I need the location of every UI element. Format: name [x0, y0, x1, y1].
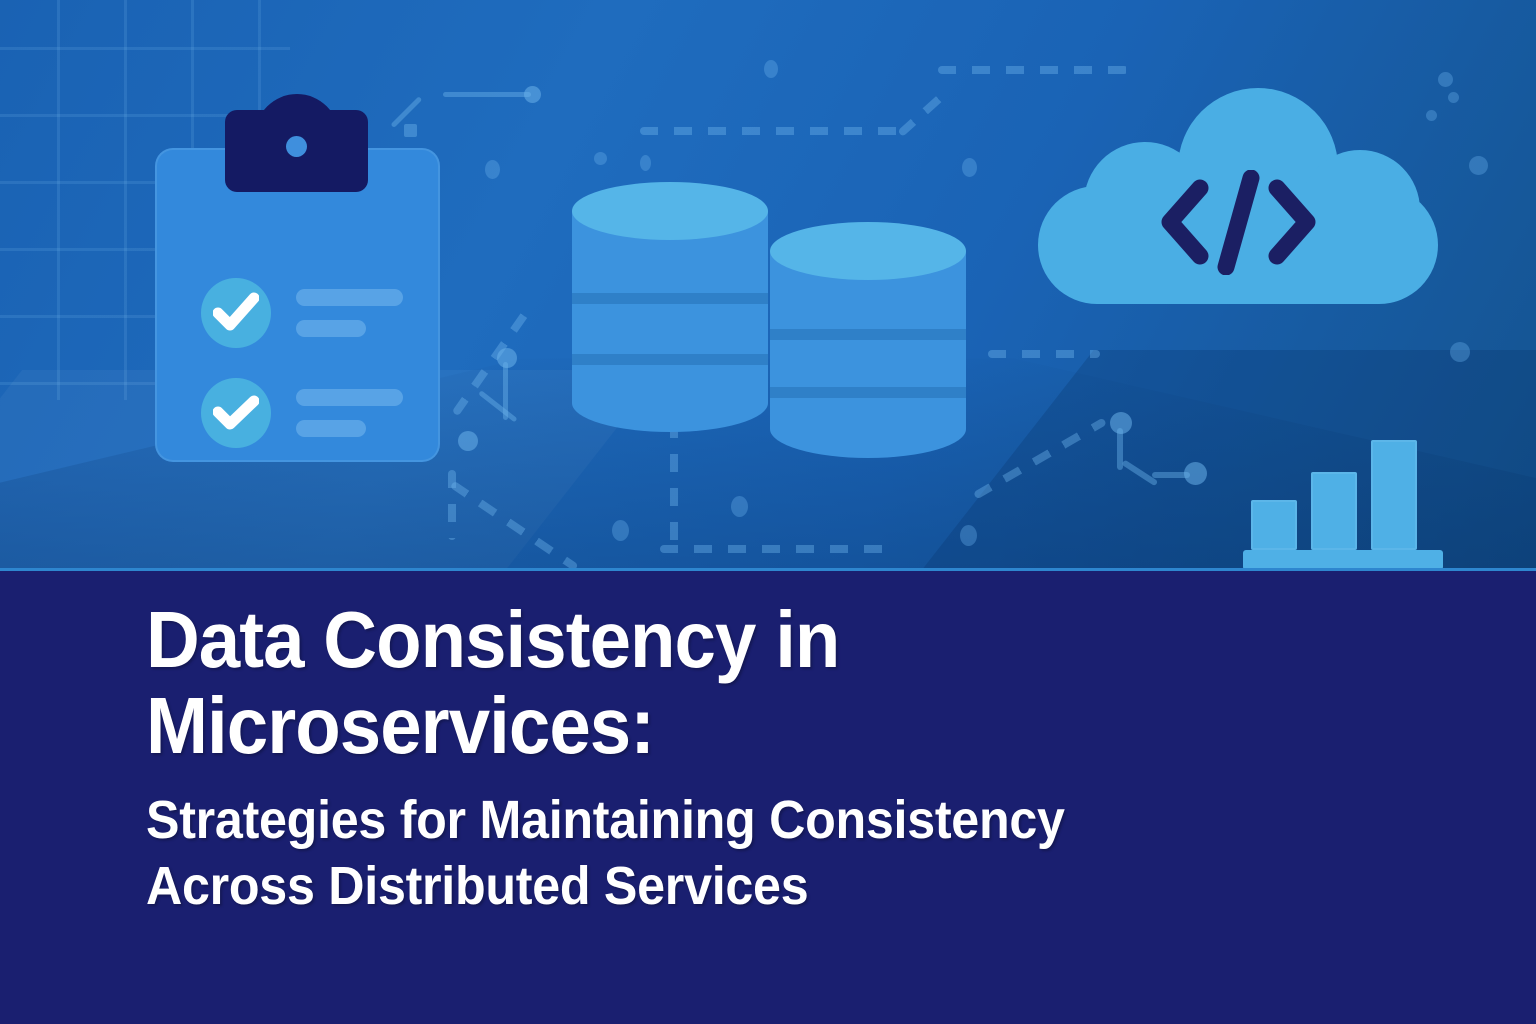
decorative-dot — [1438, 72, 1453, 87]
hero-illustration — [0, 0, 1536, 570]
dashed-connector-top-right — [938, 66, 1128, 74]
page-title-line-2: Microservices: — [146, 683, 1374, 769]
chart-bar — [1371, 440, 1417, 550]
blog-header-banner: Data Consistency in Microservices: Strat… — [0, 0, 1536, 1024]
page-subtitle-line-2: Across Distributed Services — [146, 853, 1374, 919]
database-cylinder-front — [572, 182, 768, 440]
chart-baseline — [1243, 550, 1443, 570]
page-title-line-1: Data Consistency in — [146, 597, 1374, 683]
text-line-short — [296, 320, 366, 337]
checklist-text-lines — [296, 389, 403, 437]
page-subtitle-line-1: Strategies for Maintaining Consistency — [146, 787, 1374, 853]
decorative-dot — [612, 520, 629, 541]
dashed-connector-diagonal-upper — [897, 86, 953, 137]
title-block: Data Consistency in Microservices: Strat… — [146, 597, 1466, 919]
decorative-dot — [960, 525, 977, 546]
dashed-connector-vertical-left — [448, 470, 456, 540]
dashed-connector-top-center — [640, 127, 900, 135]
text-line-short — [296, 420, 366, 437]
decorative-dot — [640, 155, 651, 171]
decorative-dot — [1469, 156, 1488, 175]
page-title: Data Consistency in Microservices: — [146, 597, 1374, 769]
title-band: Data Consistency in Microservices: Strat… — [0, 571, 1536, 1024]
database-cylinder-back — [770, 222, 966, 460]
cloud-code-icon — [1038, 88, 1438, 304]
page-subtitle: Strategies for Maintaining Consistency A… — [146, 787, 1374, 919]
checklist-clipboard — [155, 110, 440, 462]
chart-bar — [1311, 472, 1357, 550]
clipboard-clip-hole — [286, 136, 307, 157]
growth-bar-chart — [1243, 448, 1443, 570]
checklist-item — [201, 378, 403, 448]
checklist-text-lines — [296, 289, 403, 337]
text-line-long — [296, 389, 403, 406]
decorative-dot — [485, 160, 500, 179]
dashed-connector-bottom-center — [660, 545, 890, 553]
check-circle-icon — [201, 378, 271, 448]
code-glyph-icon — [1156, 170, 1321, 275]
check-circle-icon — [201, 278, 271, 348]
decorative-dot — [731, 496, 748, 517]
decorative-dot — [1448, 92, 1459, 103]
checklist-item — [201, 278, 403, 348]
text-line-long — [296, 289, 403, 306]
decorative-dot — [1450, 342, 1470, 362]
decorative-dot — [594, 152, 607, 165]
decorative-dot — [962, 158, 977, 177]
decorative-dot — [764, 60, 778, 78]
dashed-connector-mid-right — [988, 350, 1100, 358]
chart-bar — [1251, 500, 1297, 550]
